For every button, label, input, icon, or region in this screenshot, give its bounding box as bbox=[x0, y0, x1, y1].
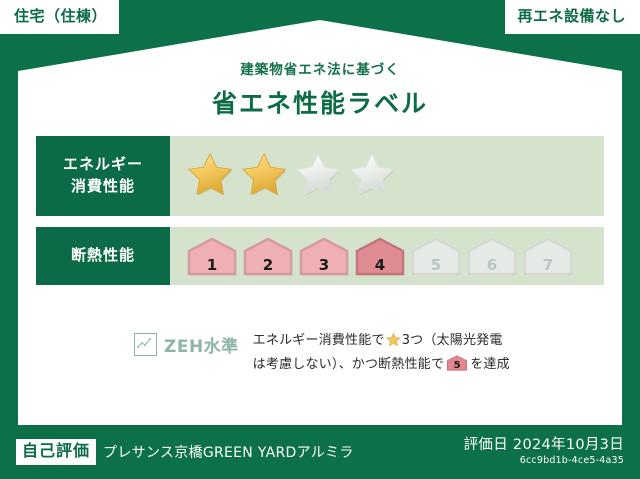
zeh-standard-note: ZEH水準 エネルギー消費性能で 3つ（太陽光発電 は考慮しない）、かつ断熱性能… bbox=[36, 330, 604, 376]
insulation-grade-3: 3 bbox=[298, 236, 350, 276]
footer-bar: 自己評価 プレサンス京橋GREEN YARDアルミラ 評価日 2024年10月3… bbox=[0, 425, 640, 479]
row-energy-value bbox=[170, 136, 604, 216]
zeh-desc-line1-a: エネルギー消費性能で bbox=[253, 333, 385, 348]
footer-left: 自己評価 プレサンス京橋GREEN YARDアルミラ bbox=[16, 439, 354, 464]
footer-right: 評価日 2024年10月3日 6cc9bd1b-4ce5-4a35 bbox=[464, 437, 624, 468]
building-type-tag: 住宅（住棟） bbox=[0, 0, 119, 34]
row-insulation-label-line1: 断熱性能 bbox=[71, 245, 135, 267]
insulation-grade-7: 7 bbox=[522, 236, 574, 276]
evaluation-id: 6cc9bd1b-4ce5-4a35 bbox=[464, 455, 624, 467]
star-icon-filled bbox=[186, 150, 234, 202]
chart-icon bbox=[134, 333, 157, 356]
title-subtitle: 建築物省エネ法に基づく bbox=[0, 58, 640, 78]
zeh-description: エネルギー消費性能で 3つ（太陽光発電 は考慮しない）、かつ断熱性能で 5 を達… bbox=[253, 330, 510, 376]
zeh-label: ZEH水準 bbox=[164, 332, 239, 357]
row-energy-label-line1: エネルギー bbox=[63, 154, 143, 176]
energy-performance-label: 住宅（住棟） 再エネ設備なし 建築物省エネ法に基づく 省エネ性能ラベル エネルギ… bbox=[0, 0, 640, 479]
insulation-grade-number: 1 bbox=[186, 258, 238, 273]
title-block: 建築物省エネ法に基づく 省エネ性能ラベル bbox=[0, 58, 640, 120]
insulation-grade-number: 2 bbox=[242, 258, 294, 273]
inline-grade-number: 5 bbox=[446, 361, 468, 371]
zeh-description-line2: は考慮しない）、かつ断熱性能で 5 を達成 bbox=[253, 354, 510, 375]
zeh-description-line1: エネルギー消費性能で 3つ（太陽光発電 bbox=[253, 330, 510, 354]
zeh-badge: ZEH水準 bbox=[36, 330, 239, 357]
star-icon-empty bbox=[348, 150, 396, 202]
star-icon-filled bbox=[240, 150, 288, 202]
inline-grade-house-icon: 5 bbox=[446, 355, 468, 371]
zeh-desc-line1-b: 3つ（太陽光発電 bbox=[402, 333, 503, 348]
insulation-grade-number: 3 bbox=[298, 258, 350, 273]
self-evaluation-badge: 自己評価 bbox=[16, 439, 96, 464]
row-energy-label-line2: 消費性能 bbox=[71, 176, 135, 198]
zeh-desc-line2-b: を達成 bbox=[470, 357, 510, 372]
renewable-energy-tag: 再エネ設備なし bbox=[505, 0, 640, 34]
star-icon bbox=[386, 332, 401, 354]
insulation-grade-4: 4 bbox=[354, 236, 406, 276]
star-rating bbox=[186, 150, 396, 202]
insulation-grade-5: 5 bbox=[410, 236, 462, 276]
row-insulation-label: 断熱性能 bbox=[36, 227, 170, 285]
insulation-grade-scale: 1234567 bbox=[186, 236, 574, 276]
property-name: プレサンス京橋GREEN YARDアルミラ bbox=[103, 442, 354, 462]
insulation-grade-number: 6 bbox=[466, 258, 518, 273]
insulation-grade-6: 6 bbox=[466, 236, 518, 276]
page-title: 省エネ性能ラベル bbox=[0, 84, 640, 120]
insulation-grade-number: 7 bbox=[522, 258, 574, 273]
row-insulation-value: 1234567 bbox=[170, 227, 604, 285]
row-energy-label: エネルギー 消費性能 bbox=[36, 136, 170, 216]
metric-rows: エネルギー 消費性能 断熱性能 1234567 bbox=[36, 136, 604, 296]
row-insulation-performance: 断熱性能 1234567 bbox=[36, 227, 604, 285]
insulation-grade-number: 5 bbox=[410, 258, 462, 273]
row-energy-performance: エネルギー 消費性能 bbox=[36, 136, 604, 216]
insulation-grade-number: 4 bbox=[354, 258, 406, 273]
evaluation-date: 評価日 2024年10月3日 bbox=[464, 437, 624, 454]
insulation-grade-1: 1 bbox=[186, 236, 238, 276]
insulation-grade-2: 2 bbox=[242, 236, 294, 276]
star-icon-empty bbox=[294, 150, 342, 202]
zeh-desc-line2-a: は考慮しない）、かつ断熱性能で bbox=[253, 357, 445, 372]
